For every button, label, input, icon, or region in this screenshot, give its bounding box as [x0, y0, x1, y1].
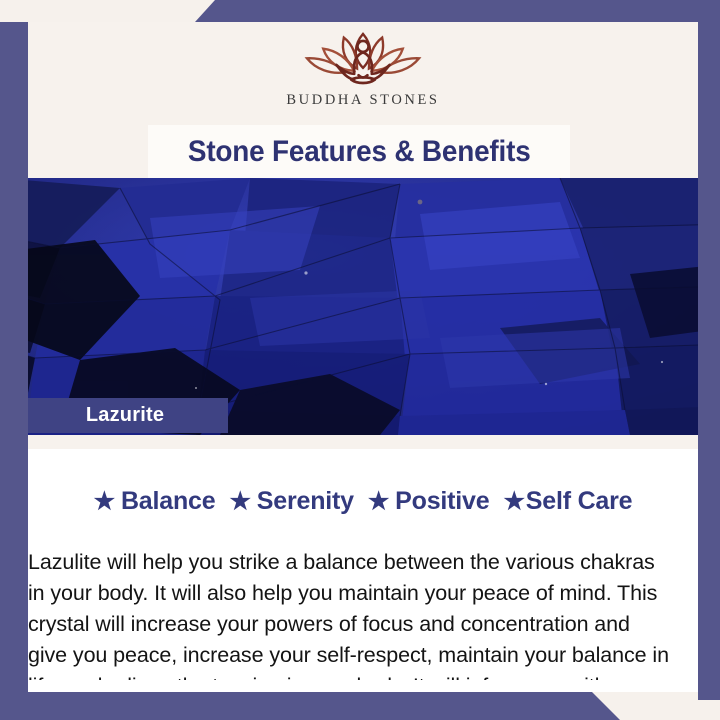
- lotus-meditation-icon: [288, 28, 438, 90]
- feature-label: Balance: [121, 487, 216, 516]
- title-panel: Stone Features & Benefits: [148, 125, 570, 178]
- features-row: ★ Balance ★ Serenity ★ Positive ★ Self C…: [28, 487, 698, 516]
- stone-description: Lazulite will help you strike a balance …: [28, 547, 698, 693]
- feature-item-self-care: ★ Self Care: [503, 487, 632, 516]
- feature-label: Positive: [395, 487, 489, 516]
- content-panel: ★ Balance ★ Serenity ★ Positive ★ Self C…: [28, 435, 698, 692]
- stone-name-banner: Lazurite: [28, 398, 228, 433]
- star-icon: ★: [503, 490, 524, 514]
- brand-name: BUDDHA STONES: [286, 92, 439, 109]
- page-title: Stone Features & Benefits: [188, 135, 531, 169]
- page-inner: BUDDHA STONES Stone Features & Benefits: [28, 22, 698, 692]
- stone-photo: [28, 178, 698, 435]
- decorative-left-bar: [0, 22, 28, 720]
- stone-info-card: BUDDHA STONES Stone Features & Benefits: [0, 0, 720, 720]
- decorative-top-bar: [195, 0, 720, 22]
- decorative-bottom-bar: [0, 692, 620, 720]
- stone-name: Lazurite: [86, 404, 164, 427]
- star-icon: ★: [229, 490, 250, 514]
- decorative-right-bar: [698, 0, 720, 700]
- brand-header: BUDDHA STONES: [28, 22, 698, 125]
- feature-item-positive: ★ Positive: [368, 487, 490, 516]
- feature-item-balance: ★ Balance: [94, 487, 216, 516]
- content-bottom-fade: [28, 680, 698, 692]
- feature-item-serenity: ★ Serenity: [229, 487, 353, 516]
- star-icon: ★: [94, 490, 115, 514]
- feature-label: Serenity: [257, 487, 354, 516]
- feature-label: Self Care: [526, 487, 633, 516]
- content-top-fade: [28, 435, 698, 449]
- star-icon: ★: [368, 490, 389, 514]
